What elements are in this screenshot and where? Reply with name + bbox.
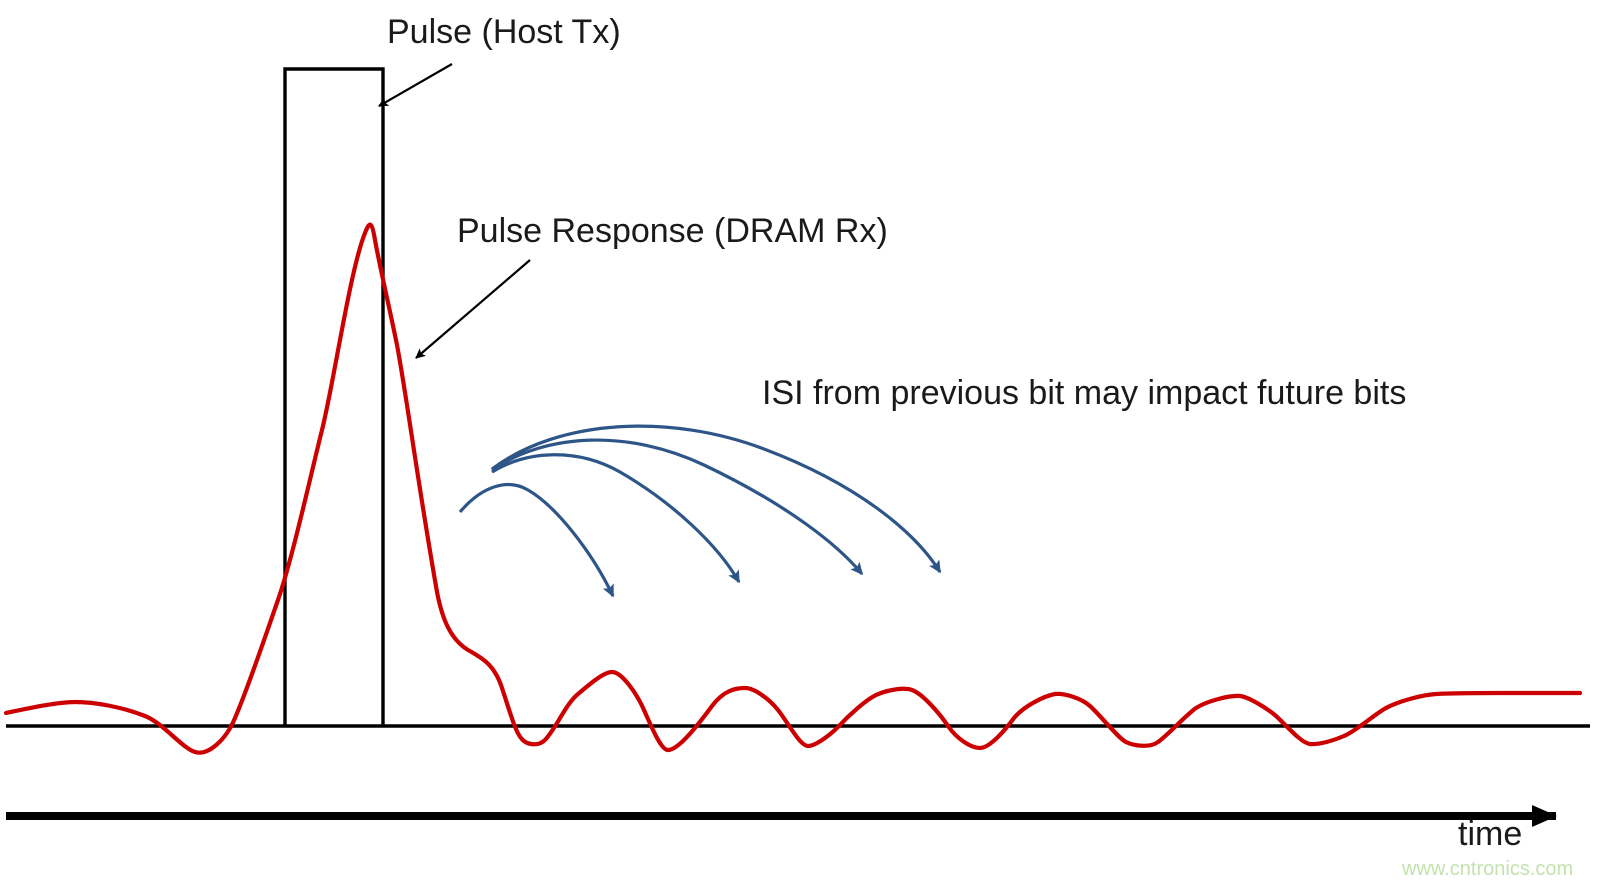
pulse-response-label: Pulse Response (DRAM Rx) bbox=[457, 212, 888, 251]
time-axis-label: time bbox=[1458, 815, 1522, 854]
pulse-tx-label: Pulse (Host Tx) bbox=[387, 13, 621, 52]
site-watermark: www.cntronics.com bbox=[1402, 858, 1573, 881]
pulse-host-tx-rectangle bbox=[285, 69, 383, 726]
pulse-response-trace bbox=[6, 225, 1580, 753]
isi-arc-3 bbox=[492, 440, 862, 574]
pulse-tx-callout-arrow bbox=[379, 64, 452, 106]
pulse-response-callout-arrow bbox=[416, 260, 530, 358]
pulse-response-diagram bbox=[0, 0, 1601, 895]
isi-note-label: ISI from previous bit may impact future … bbox=[762, 374, 1406, 413]
isi-arrow-group bbox=[460, 426, 940, 596]
isi-arc-1 bbox=[460, 485, 613, 596]
isi-arc-2 bbox=[492, 455, 739, 582]
diagram-canvas: Pulse (Host Tx) Pulse Response (DRAM Rx)… bbox=[0, 0, 1601, 895]
